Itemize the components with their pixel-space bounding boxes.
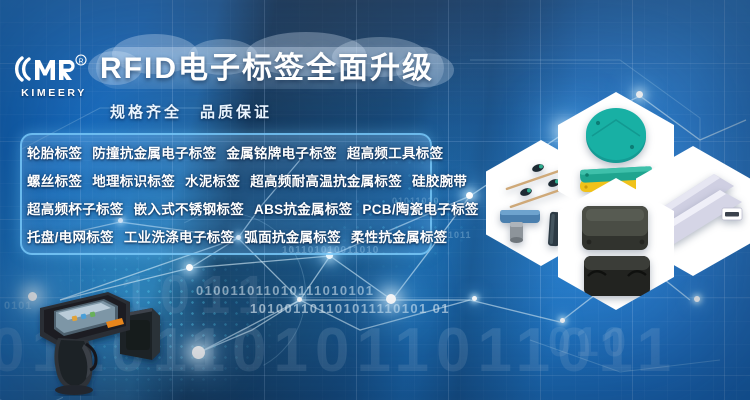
tag-item: 工业洗涤电子标签 — [124, 230, 234, 245]
brand-logo[interactable]: R KIMEERY — [14, 52, 94, 110]
network-node — [466, 192, 473, 199]
background-binary-line-2: 101001101101011110101 01 — [250, 301, 450, 316]
tag-item: 超高频杯子标签 — [27, 202, 124, 217]
tag-item: 弧面抗金属标签 — [244, 230, 341, 245]
tag-item: PCB/陶瓷电子标签 — [362, 202, 478, 217]
network-node — [192, 346, 205, 359]
tag-item: 托盘/电网标签 — [27, 230, 114, 245]
rfid-handheld-reader — [34, 278, 174, 396]
tag-item: 金属铭牌电子标签 — [226, 146, 336, 161]
tag-item: 超高频耐高温抗金属标签 — [250, 174, 402, 189]
tag-item: 硅胶腕带 — [412, 174, 467, 189]
tag-item: ABS抗金属标签 — [254, 202, 352, 217]
background-binary-line-6: 010 — [548, 318, 630, 366]
network-node — [472, 296, 477, 301]
tag-item: 嵌入式不锈钢标签 — [134, 202, 244, 217]
tag-row: 托盘/电网标签工业洗涤电子标签弧面抗金属标签柔性抗金属标签 — [22, 224, 430, 252]
network-node — [386, 294, 396, 304]
network-node — [560, 318, 565, 323]
network-node — [636, 91, 643, 98]
tag-row: 螺丝标签地理标识标签水泥标签超高频耐高温抗金属标签硅胶腕带 — [22, 168, 430, 196]
network-node — [297, 297, 302, 302]
product-tag-panel: 轮胎标签防撞抗金属电子标签金属铭牌电子标签超高频工具标签 螺丝标签地理标识标签水… — [20, 133, 432, 255]
tag-row: 超高频杯子标签嵌入式不锈钢标签ABS抗金属标签PCB/陶瓷电子标签 — [22, 196, 430, 224]
tag-item: 柔性抗金属标签 — [351, 230, 448, 245]
page-subtitle: 规格齐全 品质保证 — [110, 101, 272, 122]
page-title: RFID电子标签全面升级 — [100, 50, 445, 88]
svg-text:R: R — [78, 58, 83, 65]
tag-item: 螺丝标签 — [27, 174, 82, 189]
tag-row: 轮胎标签防撞抗金属电子标签金属铭牌电子标签超高频工具标签 — [22, 140, 430, 168]
logo-wordmark: KIMEERY — [14, 87, 94, 99]
network-node — [186, 264, 193, 271]
logo-mark-kmr: R — [14, 52, 94, 86]
tag-item: 水泥标签 — [185, 174, 240, 189]
tag-item: 超高频工具标签 — [347, 146, 444, 161]
rfid-promo-banner: 01101101011011011 1011 01001101101011101… — [0, 0, 750, 400]
tag-item: 防撞抗金属电子标签 — [92, 146, 216, 161]
background-binary-line-7: 0101 — [4, 300, 32, 312]
tag-item: 地理标识标签 — [92, 174, 175, 189]
background-binary-line-1: 010011011010111010101 — [196, 283, 374, 298]
tag-item: 轮胎标签 — [27, 146, 82, 161]
network-node — [694, 296, 700, 302]
